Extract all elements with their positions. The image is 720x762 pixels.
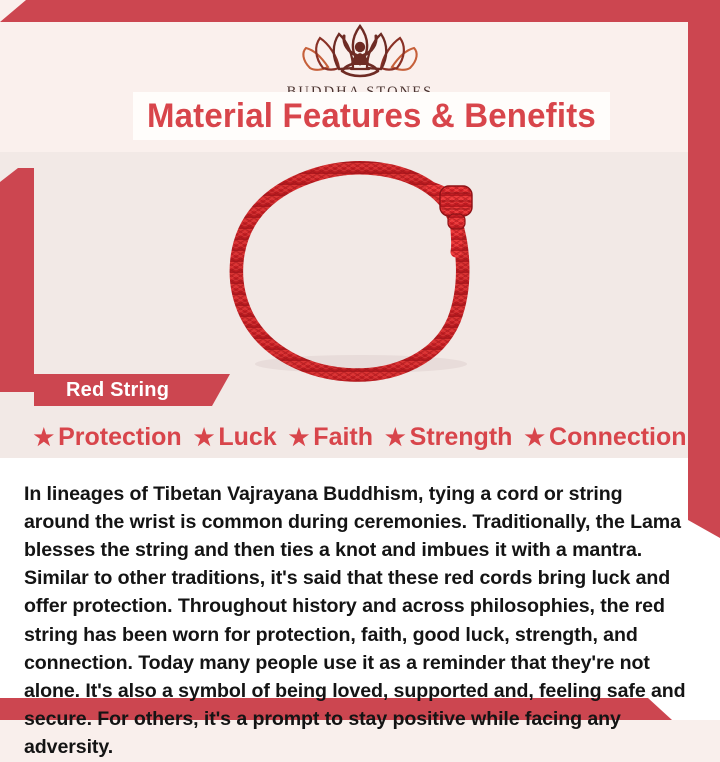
infographic-canvas: BUDDHA STONES Material Features & Benefi… [0, 0, 720, 720]
lotus-meditation-figure-icon [296, 22, 424, 82]
feature-item-connection: ★ Connection [524, 423, 686, 452]
star-icon: ★ [289, 426, 310, 449]
page-title: Material Features & Benefits [147, 97, 596, 136]
star-icon: ★ [33, 426, 54, 449]
red-string-bracelet-illustration [218, 152, 508, 390]
feature-item-faith: ★ Faith [289, 423, 373, 452]
star-icon: ★ [194, 426, 215, 449]
description-paragraph: In lineages of Tibetan Vajrayana Buddhis… [24, 480, 692, 762]
feature-label: Protection [58, 423, 182, 452]
top-red-bar [0, 0, 720, 22]
feature-label: Connection [549, 423, 687, 452]
material-label: Red String [66, 379, 169, 402]
title-banner: Material Features & Benefits [133, 92, 610, 140]
left-red-stripe [0, 168, 34, 392]
feature-label: Luck [218, 423, 276, 452]
feature-keyword-list: ★ Protection ★ Luck ★ Faith ★ Strength ★… [0, 419, 720, 455]
brand-logo: BUDDHA STONES [0, 22, 720, 101]
feature-item-protection: ★ Protection [33, 423, 181, 452]
star-icon: ★ [385, 426, 406, 449]
product-image [218, 152, 508, 390]
star-icon: ★ [524, 426, 545, 449]
feature-item-luck: ★ Luck [194, 423, 277, 452]
feature-label: Strength [410, 423, 513, 452]
material-label-banner: Red String [34, 374, 230, 406]
feature-item-strength: ★ Strength [385, 423, 512, 452]
feature-label: Faith [313, 423, 373, 452]
